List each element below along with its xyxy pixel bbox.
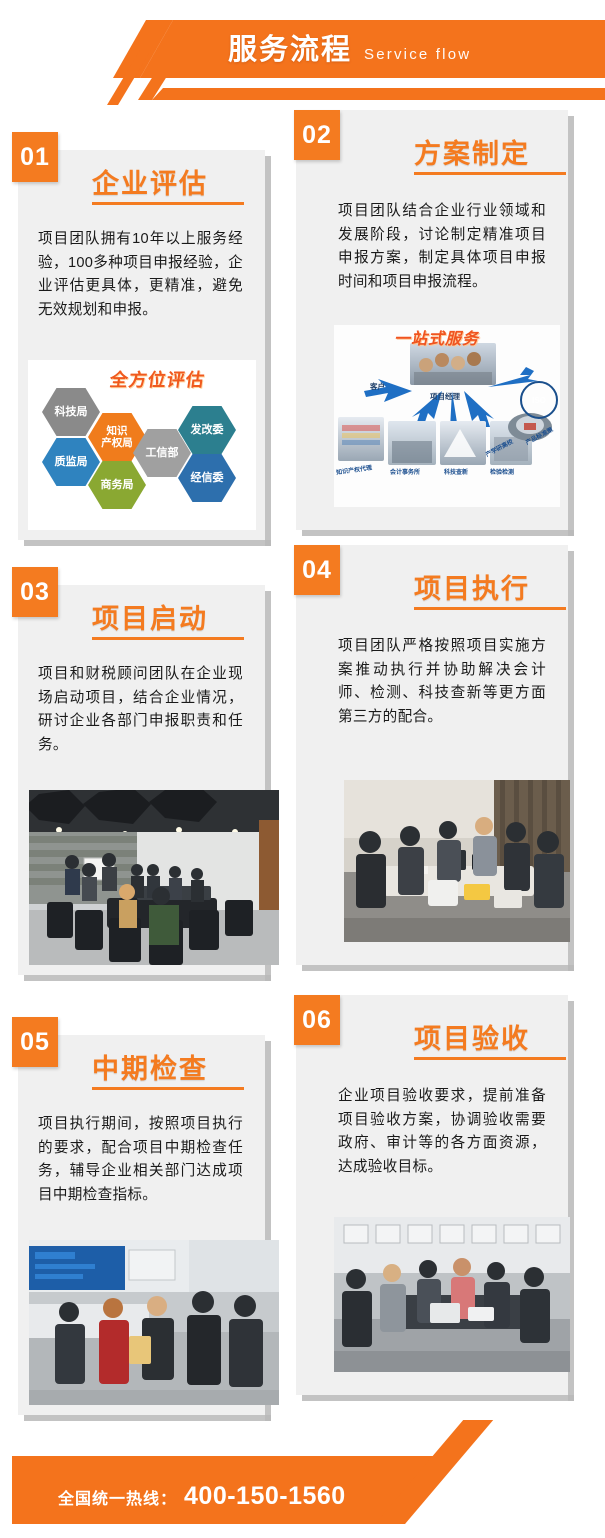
card-06[interactable]: 06 项目验收 企业项目验收要求，提前准备项目验收方案，协调验收需要政府、审计等… <box>296 995 568 1395</box>
card-03-title-rule <box>92 637 244 640</box>
hex-node-jingxinwei: 经信委 <box>178 453 236 503</box>
card-05-photo <box>29 1240 279 1405</box>
onestop-arrows <box>334 325 560 507</box>
card-06-photo <box>334 1217 570 1372</box>
onestop-node-4: 检验检测 <box>490 467 514 476</box>
assessment-hex-diagram: 全方位评估 科技局 知识产权局 发改委 质监局 工信部 经信委 商务局 <box>28 360 256 530</box>
card-04-number: 04 <box>294 545 340 595</box>
onestop-node-2: 会计事务所 <box>390 467 420 476</box>
card-04[interactable]: 04 项目执行 项目团队严格按照项目实施方案推动执行并协助解决会计师、检测、科技… <box>296 545 568 965</box>
hex-diagram-title: 全方位评估 <box>108 366 207 392</box>
onestop-service-diagram: 一站式服务 客户 项目经理 ISO 知识产权代理 会计事务所 科技查新 检验检测… <box>334 325 560 507</box>
card-04-photo <box>344 780 570 942</box>
card-02-title: 方案制定 <box>414 132 530 171</box>
card-01-body: 项目团队拥有10年以上服务经验，100多种项目申报经验，企业评估更具体，更精准，… <box>38 228 243 323</box>
card-02-number: 02 <box>294 110 340 160</box>
card-03-title: 项目启动 <box>92 597 208 636</box>
card-05-body: 项目执行期间，按照项目执行的要求，配合项目中期检查任务，辅导企业相关部门达成项目… <box>38 1113 243 1208</box>
card-01-title: 企业评估 <box>92 162 208 201</box>
card-04-body: 项目团队严格按照项目实施方案推动执行并协助解决会计师、检测、科技查新等更方面第三… <box>338 635 546 730</box>
onestop-title: 一站式服务 <box>394 325 479 349</box>
onestop-node-3: 科技查新 <box>444 467 468 476</box>
card-03-body: 项目和财税顾问团队在企业现场启动项目，结合企业情况，研讨企业各部门申报职责和任务… <box>38 663 243 758</box>
footer-hotline-number[interactable]: 400-150-1560 <box>184 1482 346 1511</box>
service-flow-poster: 服务流程 Service flow 01 企业评估 项目团队拥有10年以上服务经… <box>0 0 605 1538</box>
hex-node-zhijianju: 质监局 <box>42 437 100 487</box>
card-03-number: 03 <box>12 567 58 617</box>
iso-seal-icon: ISO <box>520 381 558 419</box>
hex-node-shangwuju: 商务局 <box>88 460 146 510</box>
card-03-photo <box>29 790 279 965</box>
onestop-client-label: 客户 <box>370 381 385 392</box>
header-banner: 服务流程 Service flow <box>0 0 605 105</box>
card-02-title-rule <box>414 172 566 175</box>
card-02-body: 项目团队结合企业行业领域和发展阶段，讨论制定精准项目申报方案，制定具体项目申报时… <box>338 200 546 295</box>
card-06-title: 项目验收 <box>414 1017 530 1056</box>
onestop-center-label: 项目经理 <box>430 391 460 402</box>
card-02[interactable]: 02 方案制定 项目团队结合企业行业领域和发展阶段，讨论制定精准项目申报方案，制… <box>296 110 568 530</box>
card-05-number: 05 <box>12 1017 58 1067</box>
card-01[interactable]: 01 企业评估 项目团队拥有10年以上服务经验，100多种项目申报经验，企业评估… <box>18 150 265 540</box>
card-03[interactable]: 03 项目启动 项目和财税顾问团队在企业现场启动项目，结合企业情况，研讨企业各部… <box>18 585 265 975</box>
header-title-en: Service flow <box>364 46 471 63</box>
card-01-title-rule <box>92 202 244 205</box>
header-title-cn: 服务流程 <box>228 26 352 68</box>
footer-banner: 全国统一热线： 400-150-1560 <box>0 1420 605 1538</box>
card-04-title-rule <box>414 607 566 610</box>
card-01-number: 01 <box>12 132 58 182</box>
card-06-title-rule <box>414 1057 566 1060</box>
hex-node-keji: 科技局 <box>42 387 100 437</box>
card-05-title-rule <box>92 1087 244 1090</box>
footer-hotline-label: 全国统一热线： <box>58 1485 177 1509</box>
card-05[interactable]: 05 中期检查 项目执行期间，按照项目执行的要求，配合项目中期检查任务，辅导企业… <box>18 1035 265 1415</box>
card-06-body: 企业项目验收要求，提前准备项目验收方案，协调验收需要政府、审计等的各方面资源，达… <box>338 1085 546 1180</box>
card-06-number: 06 <box>294 995 340 1045</box>
card-05-title: 中期检查 <box>92 1047 208 1086</box>
card-04-title: 项目执行 <box>414 567 530 606</box>
footer-banner-shape <box>0 1420 605 1538</box>
